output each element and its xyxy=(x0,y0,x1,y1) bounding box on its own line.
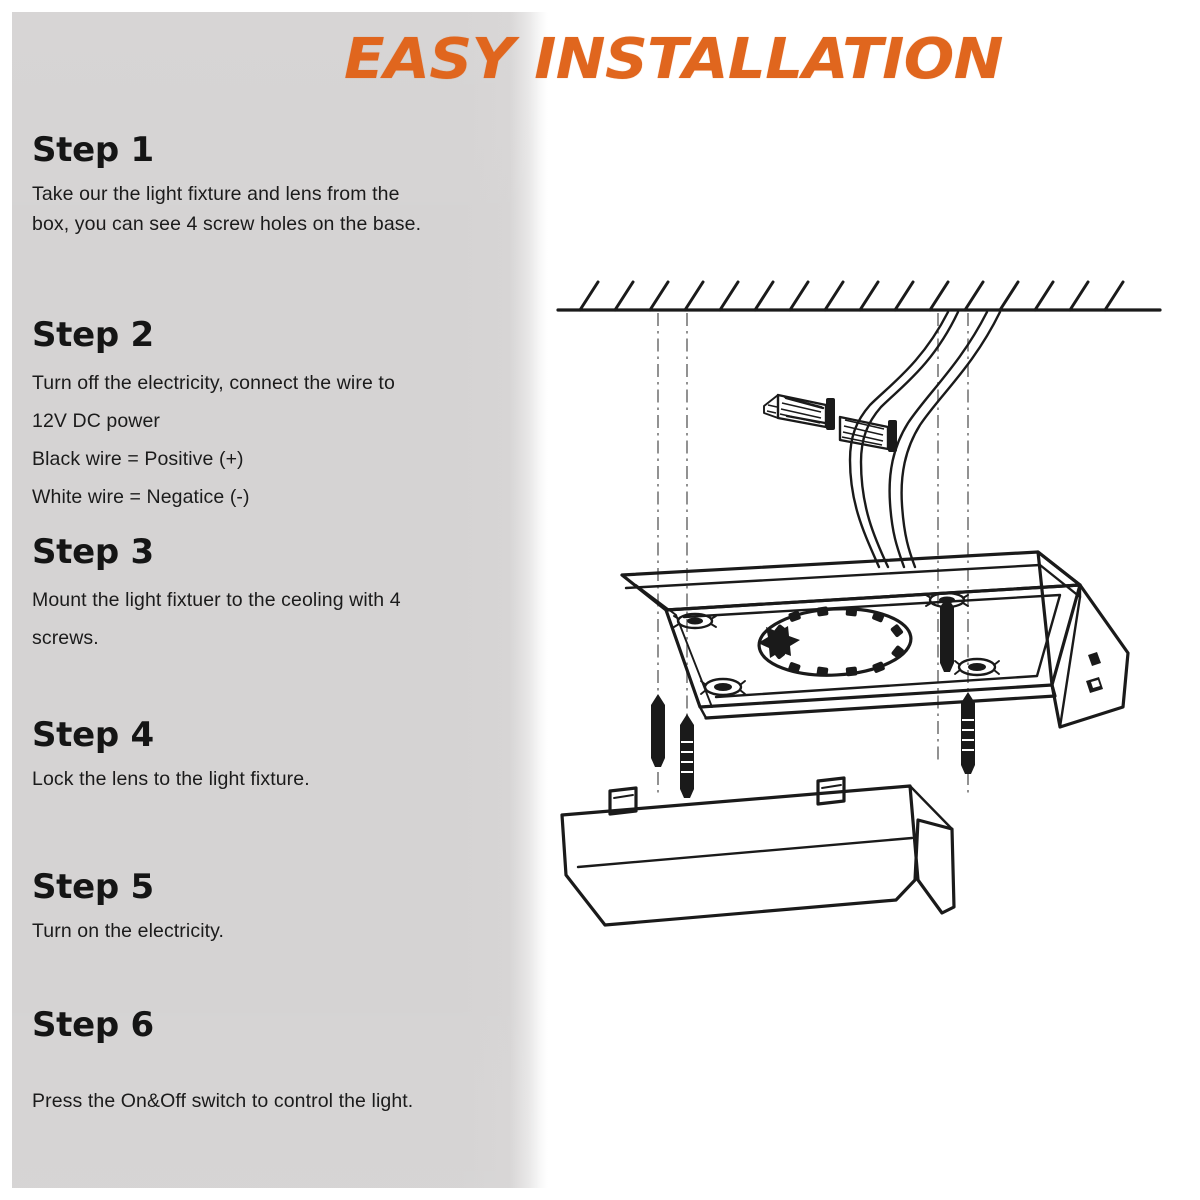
step-1-heading: Step 1 xyxy=(32,133,512,167)
wire-b-inner xyxy=(902,312,1000,567)
step-2-body: Turn off the electricity, connect the wi… xyxy=(32,364,512,516)
housing-right-end-crease xyxy=(1060,585,1080,727)
housing-top-face xyxy=(622,552,1080,610)
base-plate-front-lip xyxy=(700,685,1052,707)
connector-right-collar xyxy=(888,420,897,452)
step-2-line-4: White wire = Negatice (-) xyxy=(32,478,512,516)
lens-cover-group xyxy=(562,778,954,925)
wall-anchor-1 xyxy=(680,714,694,798)
step-1-body: Take our the light fixture and lens from… xyxy=(32,179,512,239)
housing-top-edge-inner xyxy=(626,565,1040,588)
supply-wires-group xyxy=(764,312,1000,567)
step-6-body: Press the On&Off switch to control the l… xyxy=(32,1086,512,1116)
wire-connector-right xyxy=(840,417,897,452)
step-6-line-1: Press the On&Off switch to control the l… xyxy=(32,1086,512,1116)
step-1-block: Step 1 Take our the light fixture and le… xyxy=(32,133,512,239)
mounting-screw-1 xyxy=(651,694,665,767)
step-2-block: Step 2 Turn off the electricity, connect… xyxy=(32,318,512,516)
step-6-block: Step 6 Press the On&Off switch to contro… xyxy=(32,1008,512,1116)
step-3-heading: Step 3 xyxy=(32,535,512,569)
step-5-heading: Step 5 xyxy=(32,870,512,904)
screw-hole-front-right xyxy=(955,659,999,675)
step-4-body: Lock the lens to the light fixture. xyxy=(32,764,512,794)
housing-left-end xyxy=(622,575,706,718)
screw-hole-front-left xyxy=(701,679,745,695)
lens-right-inner-edge xyxy=(918,880,942,913)
wall-anchor-2 xyxy=(961,692,975,774)
step-3-body: Mount the light fixtuer to the ceoling w… xyxy=(32,581,512,657)
step-6-heading: Step 6 xyxy=(32,1008,512,1042)
installation-illustration: .ln { fill:none; stroke:#1a1a1a; stroke-… xyxy=(540,255,1180,935)
connector-left-collar xyxy=(826,398,835,430)
ceiling-group xyxy=(558,282,1160,310)
step-3-line-2: screws. xyxy=(32,619,512,657)
base-plate-lower-edge xyxy=(706,685,1055,718)
mounting-screw-2 xyxy=(940,597,954,672)
step-2-line-1: Turn off the electricity, connect the wi… xyxy=(32,364,512,402)
step-3-block: Step 3 Mount the light fixtuer to the ce… xyxy=(32,535,512,657)
lens-crease-line xyxy=(578,838,912,867)
step-4-block: Step 4 Lock the lens to the light fixtur… xyxy=(32,718,512,794)
oval-knockout-vent xyxy=(757,605,912,679)
step-5-body: Turn on the electricity. xyxy=(32,916,512,946)
lens-cover-body xyxy=(562,786,954,925)
wire-connector-left xyxy=(764,395,835,430)
housing-left-end-inner xyxy=(636,585,712,707)
step-5-block: Step 5 Turn on the electricity. xyxy=(32,870,512,946)
step-5-line-1: Turn on the electricity. xyxy=(32,916,512,946)
installation-instruction-sheet: EASY INSTALLATION Step 1 Take our the li… xyxy=(0,0,1200,1200)
ceiling-hatching xyxy=(580,282,1123,310)
alignment-centerlines xyxy=(658,313,968,795)
step-4-heading: Step 4 xyxy=(32,718,512,752)
light-fixture-housing xyxy=(622,552,1128,727)
step-2-heading: Step 2 xyxy=(32,318,512,352)
step-1-line-1: Take our the light fixture and lens from… xyxy=(32,179,512,209)
step-1-line-2: box, you can see 4 screw holes on the ba… xyxy=(32,209,512,239)
on-off-switch xyxy=(1086,652,1103,693)
step-4-line-1: Lock the lens to the light fixture. xyxy=(32,764,512,794)
page-title: EASY INSTALLATION xyxy=(344,27,938,92)
step-2-line-2: 12V DC power xyxy=(32,402,512,440)
step-3-line-1: Mount the light fixtuer to the ceoling w… xyxy=(32,581,512,619)
step-2-line-3: Black wire = Positive (+) xyxy=(32,440,512,478)
housing-right-end-face xyxy=(1038,552,1128,727)
